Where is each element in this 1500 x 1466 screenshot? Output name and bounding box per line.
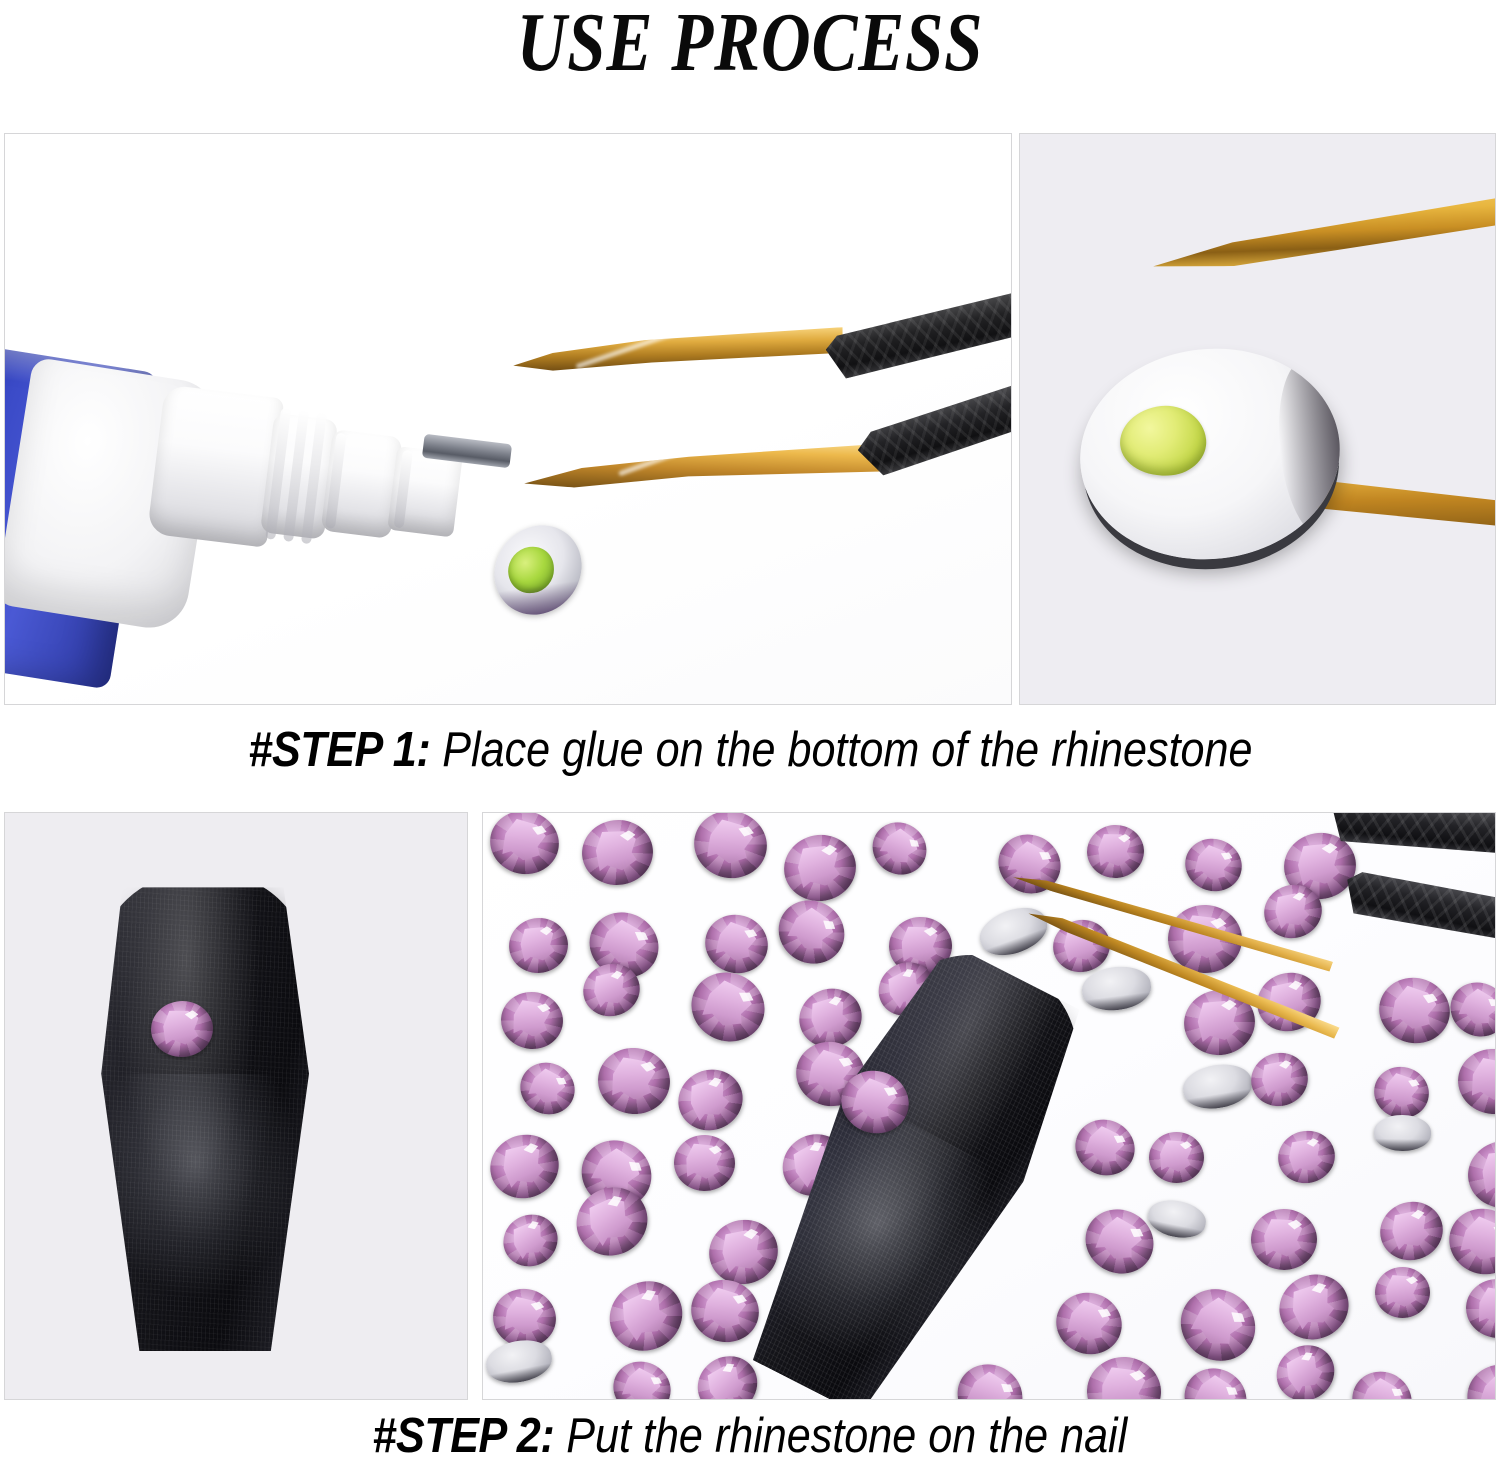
rhinestone-foil-back (1374, 1115, 1431, 1152)
rhinestone (498, 989, 565, 1052)
tweezer-gold-tip (513, 327, 844, 373)
tweezer-upper-arm (513, 330, 1012, 370)
rhinestone (1250, 1208, 1317, 1270)
rhinestone-on-nail (149, 999, 215, 1059)
step-1-label: #STEP 1: (248, 723, 430, 777)
tweezer-tip-upper (1151, 189, 1496, 269)
rhinestone (1375, 1267, 1430, 1318)
step-2-caption: #STEP 2: Put the rhinestone on the nail (0, 1408, 1500, 1464)
rhinestone (1085, 823, 1145, 879)
nail-sheen (110, 1074, 297, 1294)
glue-application-photo (4, 133, 1012, 705)
placing-rhinestone-photo (482, 812, 1496, 1400)
rhinestone (505, 914, 572, 978)
page-title: USE PROCESS (135, 0, 1365, 91)
rhinestone (1454, 1045, 1496, 1118)
rhinestone (579, 816, 657, 888)
rhinestone (1149, 1132, 1204, 1183)
rhinestone-foil-back (1080, 963, 1154, 1014)
rhinestone-flat-back (1070, 336, 1351, 572)
rhinestone-closeup-photo (1019, 133, 1496, 705)
black-press-on-nail (97, 873, 309, 1351)
finished-nail-photo (4, 812, 468, 1400)
step-2-label: #STEP 2: (373, 1409, 555, 1463)
rhinestone (594, 1044, 674, 1118)
step-2-text: Put the rhinestone on the nail (554, 1409, 1127, 1463)
rhinestone (779, 829, 861, 907)
rhinestone (673, 1134, 736, 1192)
tweezer-gold-tip (524, 428, 882, 498)
tweezer-lower-arm (525, 434, 1012, 494)
step-1-caption: #STEP 1: Place glue on the bottom of the… (0, 722, 1500, 778)
rhinestone (1464, 1276, 1496, 1340)
step-1-text: Place glue on the bottom of the rhinesto… (430, 723, 1252, 777)
rhinestone (1085, 1355, 1163, 1400)
